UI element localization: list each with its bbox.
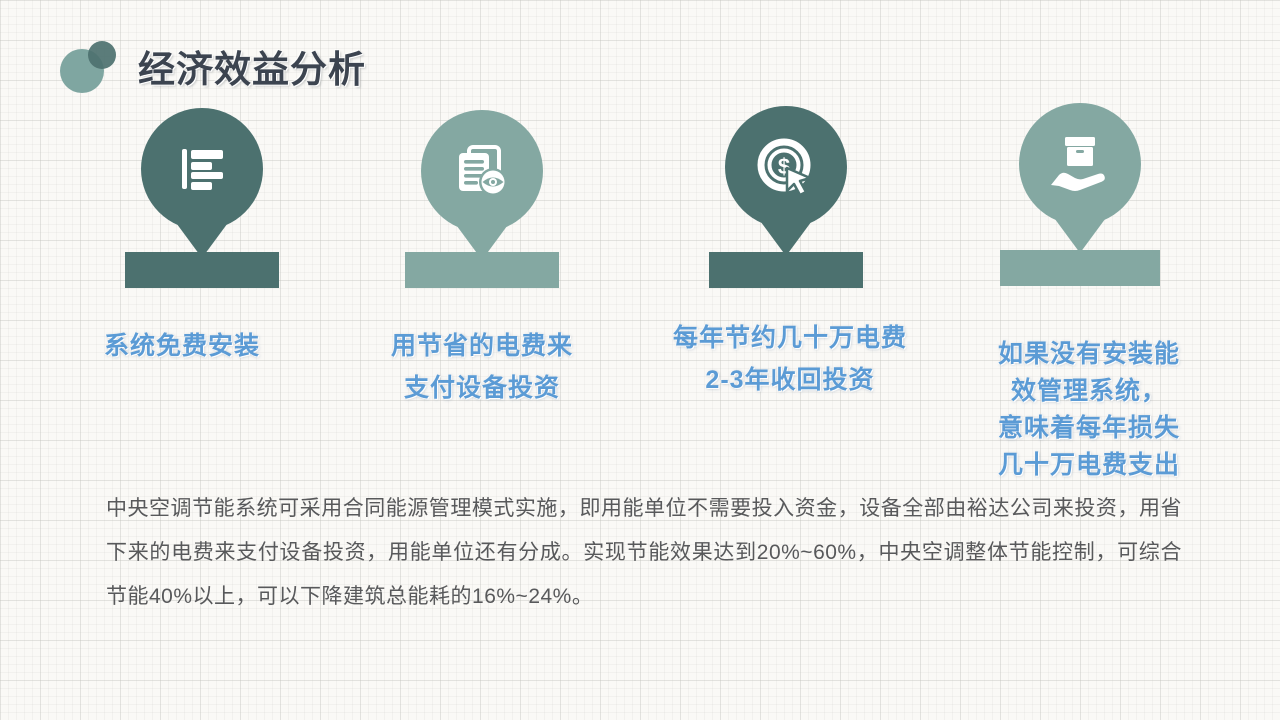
- pin-columns: $: [0, 100, 1280, 300]
- caption-3-line-2: 2-3年收回投资: [646, 359, 934, 401]
- column-2: [382, 100, 582, 300]
- logo-small-circle-icon: [88, 41, 116, 69]
- column-3: $: [686, 100, 886, 300]
- hand-holding-box-icon: [1049, 134, 1111, 194]
- document-review-eye-icon: [453, 142, 511, 200]
- pedestal-3: [709, 252, 863, 288]
- caption-4-line-3: 意味着每年损失: [980, 410, 1198, 447]
- pin-shape-2: [421, 110, 543, 232]
- pin-marker-2[interactable]: [421, 110, 543, 232]
- caption-4-line-2: 效管理系统，: [980, 373, 1198, 410]
- pin-marker-1[interactable]: [141, 108, 263, 230]
- caption-1: 系统免费安装: [52, 325, 312, 367]
- body-paragraph: 中央空调节能系统可采用合同能源管理模式实施，即用能单位不需要投入资金，设备全部由…: [106, 487, 1182, 619]
- caption-4-line-4: 几十万电费支出: [980, 447, 1198, 484]
- caption-2-line-1: 用节省的电费来: [362, 325, 602, 367]
- bar-chart-list-icon: [174, 141, 230, 197]
- slide-canvas: 经济效益分析: [0, 0, 1280, 720]
- pin-shape-3: $: [725, 106, 847, 228]
- caption-4: 如果没有安装能 效管理系统， 意味着每年损失 几十万电费支出: [980, 336, 1198, 484]
- pin-shape-1: [141, 108, 263, 230]
- pin-marker-4[interactable]: [1019, 103, 1141, 225]
- pedestal-4: [1000, 250, 1160, 286]
- caption-4-line-1: 如果没有安装能: [980, 336, 1198, 373]
- caption-3: 每年节约几十万电费 2-3年收回投资: [646, 317, 934, 401]
- logo-mark: [60, 37, 122, 95]
- column-4: [980, 100, 1180, 300]
- caption-3-line-1: 每年节约几十万电费: [646, 317, 934, 359]
- caption-1-line-1: 系统免费安装: [52, 325, 312, 367]
- pin-marker-3[interactable]: $: [725, 106, 847, 228]
- pedestal-1: [125, 252, 279, 288]
- column-1: [102, 100, 302, 300]
- page-title: 经济效益分析: [138, 39, 366, 93]
- pin-shape-4: [1019, 103, 1141, 225]
- caption-2: 用节省的电费来 支付设备投资: [362, 325, 602, 409]
- dollar-coin-cursor-icon: $: [755, 136, 817, 198]
- pedestal-2: [405, 252, 559, 288]
- slide-header: 经济效益分析: [60, 34, 366, 98]
- caption-2-line-2: 支付设备投资: [362, 367, 602, 409]
